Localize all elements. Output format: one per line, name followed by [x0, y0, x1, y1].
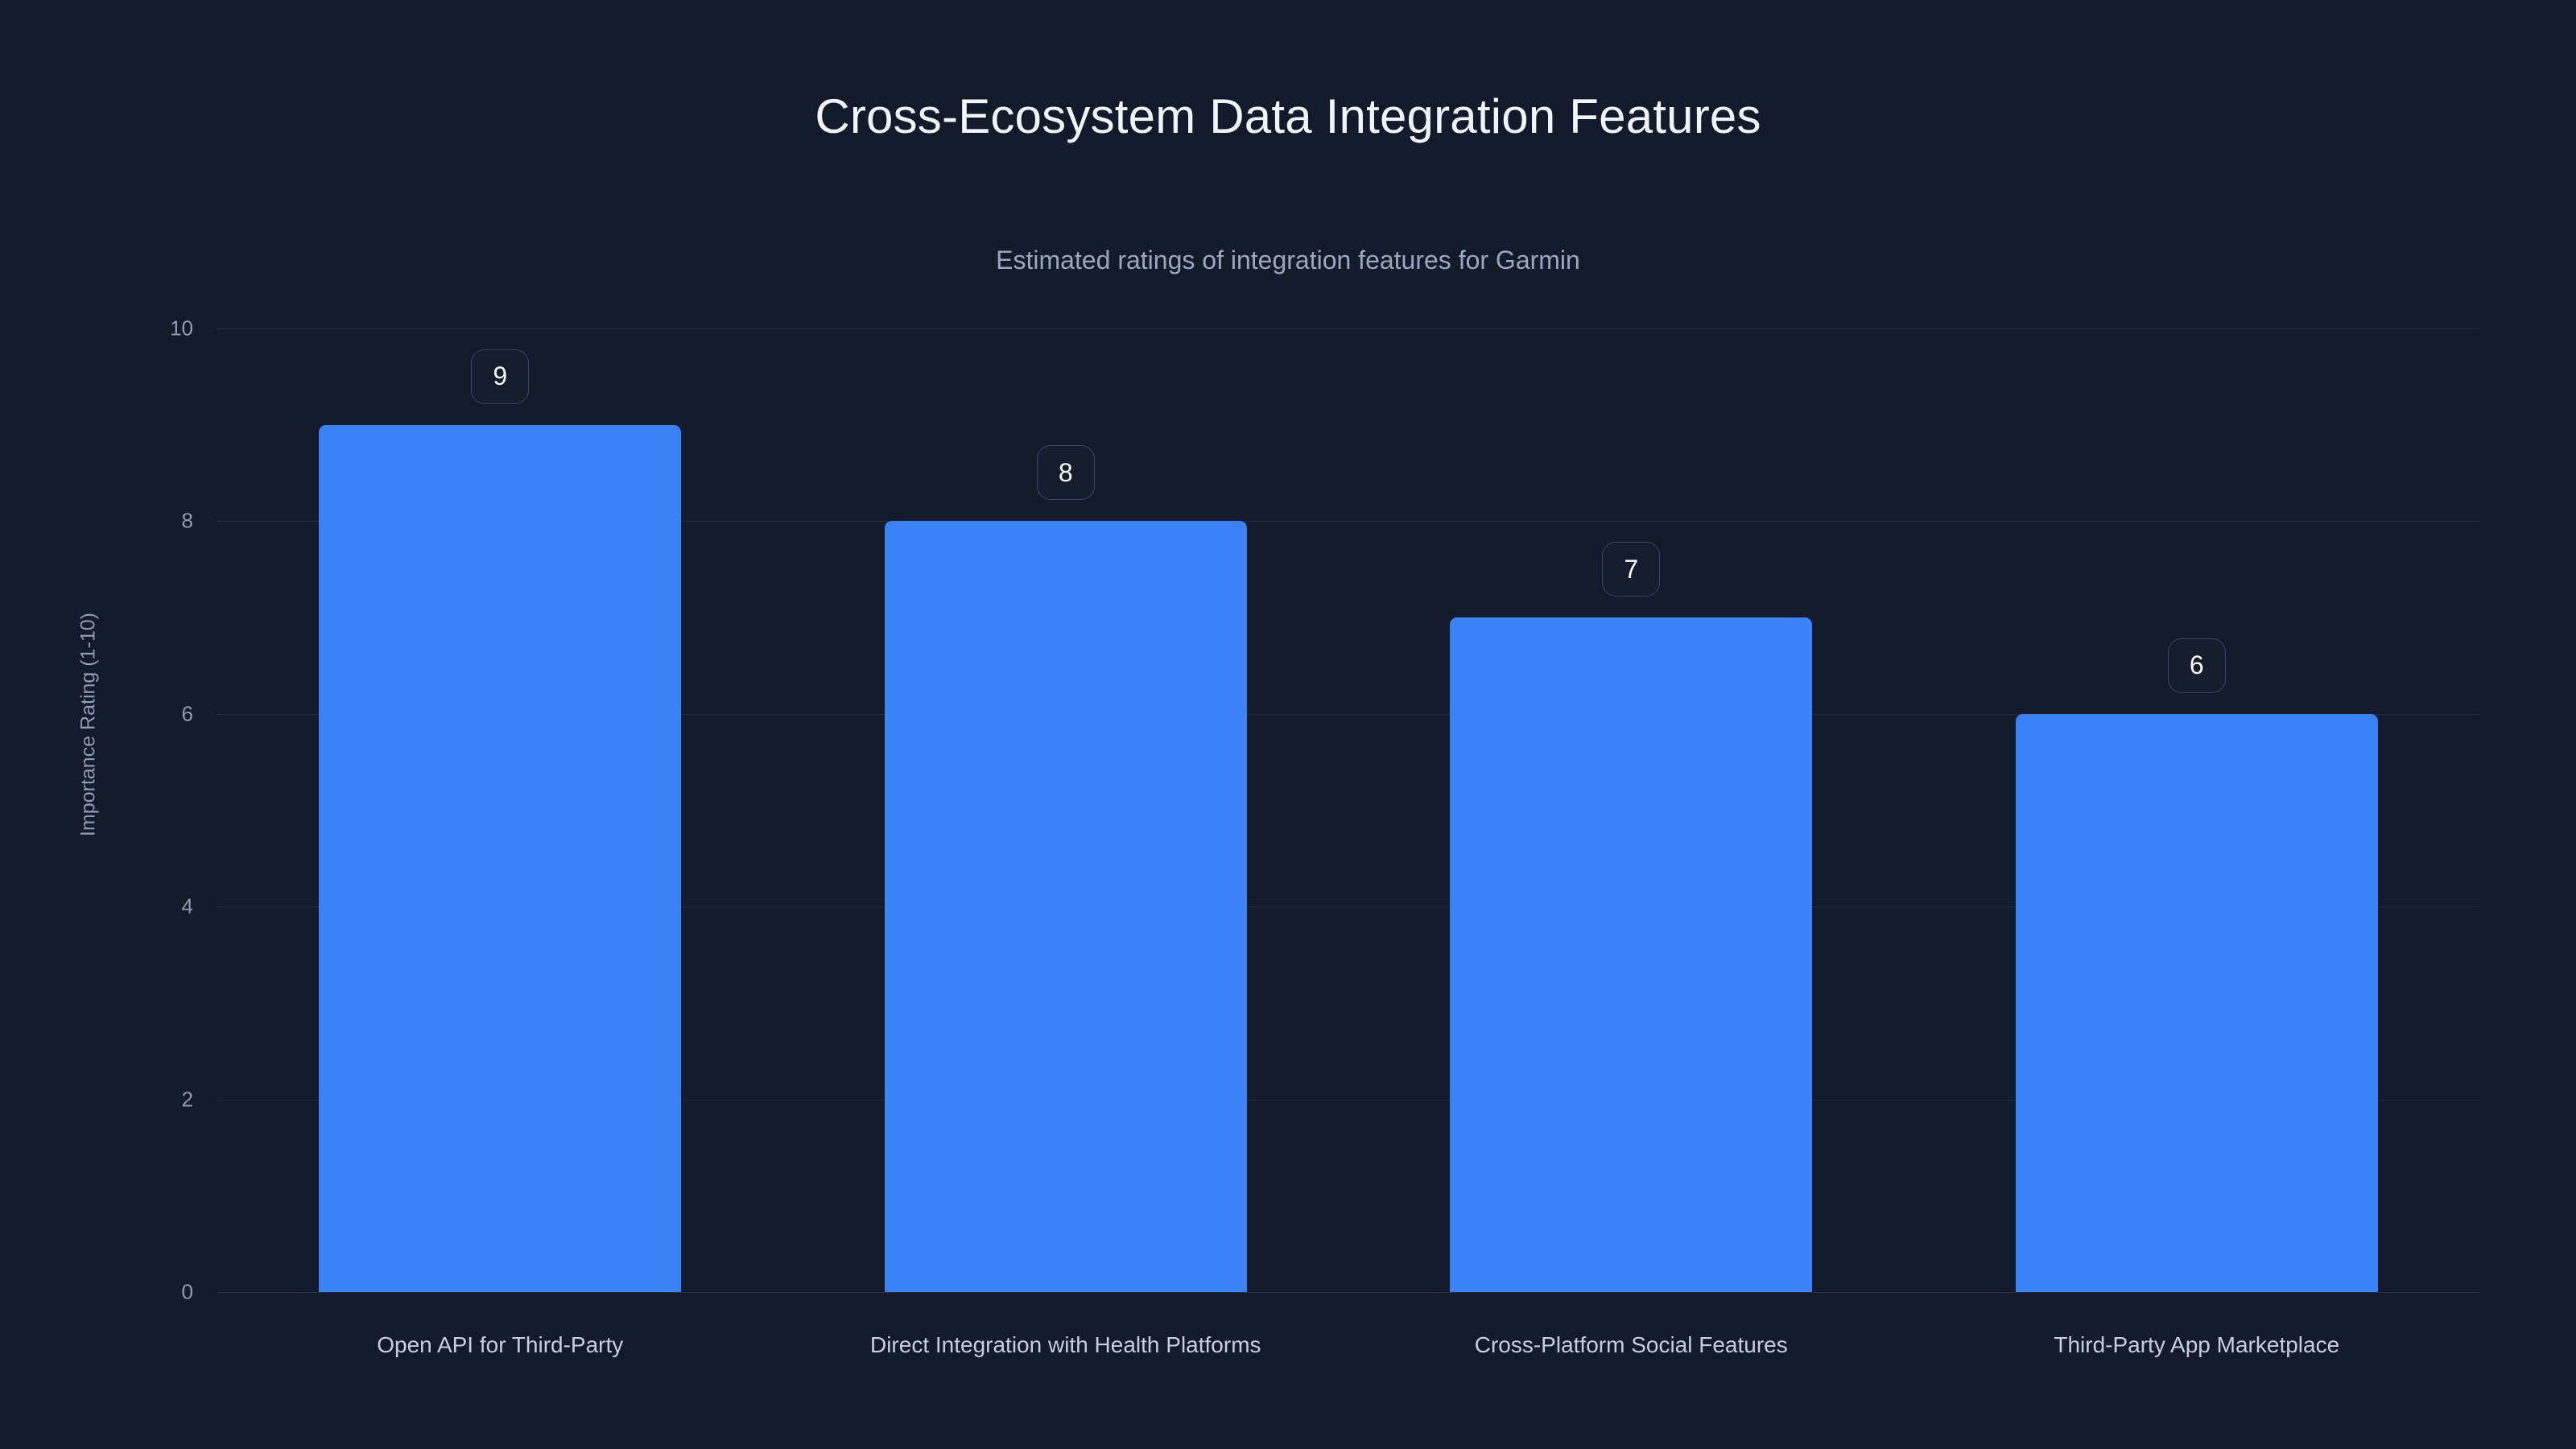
bar-value-badge: 9 [471, 349, 529, 404]
bar-value-badge: 7 [1602, 542, 1660, 597]
bar-value-badge: 6 [2168, 638, 2226, 693]
bar-chart: Cross-Ecosystem Data Integration Feature… [0, 0, 2576, 1449]
gridline [217, 328, 2479, 329]
y-axis-tick-label: 2 [137, 1087, 193, 1112]
y-axis-tick-label: 4 [137, 894, 193, 919]
bar[interactable] [2016, 714, 2378, 1292]
x-axis-category-label: Open API for Third-Party [377, 1332, 623, 1358]
bar[interactable] [319, 425, 681, 1292]
y-axis-tick-label: 6 [137, 701, 193, 726]
bar[interactable] [1450, 617, 1812, 1292]
y-axis-tick-label: 0 [137, 1280, 193, 1305]
bar-value-badge: 8 [1037, 445, 1095, 500]
x-axis-category-label: Third-Party App Marketplace [2054, 1332, 2339, 1358]
y-axis-tick-label: 8 [137, 509, 193, 534]
plot-area [217, 328, 2479, 1292]
x-axis-category-label: Cross-Platform Social Features [1475, 1332, 1788, 1358]
bar[interactable] [885, 521, 1247, 1292]
y-axis-tick-label: 10 [137, 316, 193, 341]
x-axis-category-label: Direct Integration with Health Platforms [870, 1332, 1261, 1358]
gridline [217, 1292, 2479, 1293]
